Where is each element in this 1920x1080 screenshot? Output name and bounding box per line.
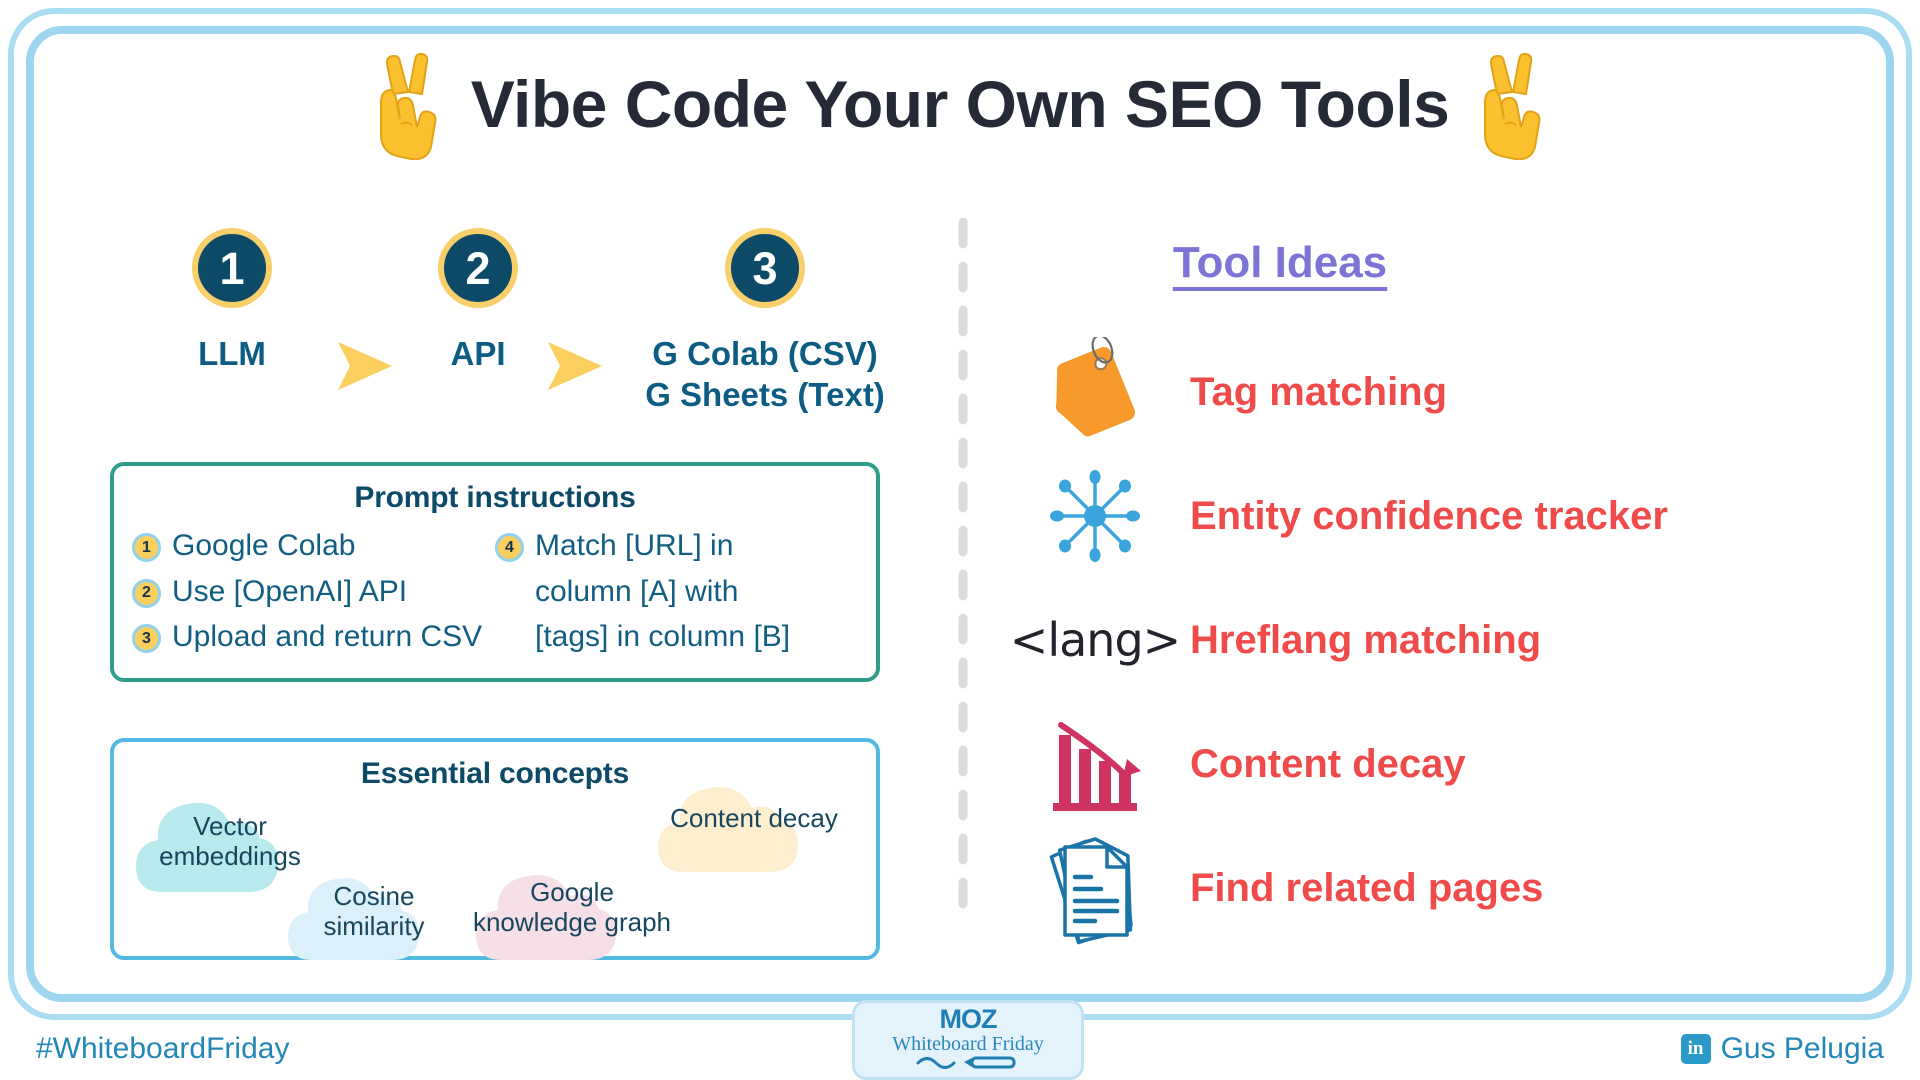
cloud-line-1: Content decay <box>654 804 854 834</box>
tool-ideas-heading: Tool Ideas <box>1000 238 1560 288</box>
workflow-step-3: 3 G Colab (CSV) G Sheets (Text) <box>625 228 905 416</box>
price-tag-icon <box>1000 337 1190 447</box>
list-item: 4 Match [URL] in <box>495 528 858 565</box>
workflow-steps: 1 LLM 2 API 3 G Colab (CSV) <box>150 228 910 418</box>
step-label-line-1: G Colab (CSV) <box>625 333 905 374</box>
tool-idea-label: Content decay <box>1190 742 1466 787</box>
step-number-badge: 1 <box>192 228 272 308</box>
tool-ideas-list: Tag matching <box>1000 330 1920 950</box>
step-label: API <box>418 333 538 374</box>
workflow-step-2: 2 API <box>418 228 538 374</box>
moz-whiteboard-friday-badge: MOZ Whiteboard Friday <box>852 1000 1084 1080</box>
cloud-line-1: Vector <box>130 812 330 842</box>
item-text-continued: column [A] with <box>535 574 858 611</box>
chevron-right-icon <box>330 336 400 396</box>
list-item: 2 Use [OpenAI] API <box>132 574 495 611</box>
tool-idea-label: Entity confidence tracker <box>1190 494 1668 539</box>
item-number-badge: 3 <box>132 624 161 653</box>
linkedin-icon[interactable]: in <box>1681 1034 1711 1064</box>
tool-idea-label: Hreflang matching <box>1190 618 1541 663</box>
tool-idea-row: Find related pages <box>1000 826 1920 950</box>
tool-idea-row: Entity confidence tracker <box>1000 454 1920 578</box>
tool-idea-label: Tag matching <box>1190 370 1447 415</box>
right-column: Tool Ideas Tag matching <box>1000 0 1920 1020</box>
item-text: Match [URL] in <box>535 528 733 565</box>
concept-cloud-label: Google knowledge graph <box>472 878 672 938</box>
workflow-step-1: 1 LLM <box>172 228 292 374</box>
list-item: 1 Google Colab <box>132 528 495 565</box>
chevron-right-icon <box>540 336 610 396</box>
author-credit[interactable]: in Gus Pelugia <box>1681 1032 1884 1066</box>
cloud-line-2: knowledge graph <box>472 908 672 938</box>
item-number-badge: 2 <box>132 579 161 608</box>
essential-concepts-panel: Essential concepts Vector embeddings <box>110 738 880 960</box>
step-label: G Colab (CSV) G Sheets (Text) <box>625 333 905 416</box>
concept-cloud-label: Content decay <box>654 804 854 834</box>
whiteboard-canvas: Vibe Code Your Own SEO Tools 1 LLM <box>0 0 1920 1080</box>
prompt-instructions-panel: Prompt instructions 1 Google Colab 2 Use… <box>110 462 880 682</box>
tool-idea-label: Find related pages <box>1190 866 1543 911</box>
prompt-panel-title: Prompt instructions <box>114 466 876 515</box>
author-name: Gus Pelugia <box>1721 1032 1884 1066</box>
prompt-column-left: 1 Google Colab 2 Use [OpenAI] API 3 Uplo… <box>132 528 495 665</box>
cloud-line-1: Cosine <box>284 882 464 912</box>
prompt-columns: 1 Google Colab 2 Use [OpenAI] API 3 Uplo… <box>114 528 876 665</box>
concept-clouds: Vector embeddings Cosine similarity <box>114 742 876 956</box>
concept-cloud: Google knowledge graph <box>472 840 672 970</box>
list-item: 3 Upload and return CSV <box>132 619 495 656</box>
hashtag-label: #WhiteboardFriday <box>36 1032 289 1066</box>
step-label-line-2: G Sheets (Text) <box>625 374 905 415</box>
network-nodes-icon <box>1000 461 1190 571</box>
item-text: Use [OpenAI] API <box>172 574 407 611</box>
concept-cloud: Content decay <box>654 752 854 882</box>
item-text: Google Colab <box>172 528 355 565</box>
tool-idea-row: Content decay <box>1000 702 1920 826</box>
moz-badge-subtitle: Whiteboard Friday <box>892 1034 1044 1054</box>
prompt-column-right: 4 Match [URL] in column [A] with [tags] … <box>495 528 858 665</box>
step-number-badge: 2 <box>438 228 518 308</box>
vertical-dashed-divider <box>958 218 968 918</box>
lang-tag-icon: <lang> <box>1000 585 1190 695</box>
cloud-line-1: Google <box>472 878 672 908</box>
concept-cloud-label: Cosine similarity <box>284 882 464 942</box>
concept-cloud: Cosine similarity <box>284 840 464 970</box>
step-number-badge: 3 <box>725 228 805 308</box>
tool-idea-row: Tag matching <box>1000 330 1920 454</box>
marker-squiggle-icon <box>908 1055 1028 1074</box>
left-column: 1 LLM 2 API 3 G Colab (CSV) <box>0 0 960 1020</box>
lang-tag-text: <lang> <box>1010 613 1180 667</box>
moz-logo-text: MOZ <box>940 1006 997 1033</box>
item-number-badge: 1 <box>132 533 161 562</box>
tool-idea-row: <lang> Hreflang matching <box>1000 578 1920 702</box>
stacked-documents-icon <box>1000 833 1190 943</box>
cloud-line-2: similarity <box>284 912 464 942</box>
item-text: Upload and return CSV <box>172 619 482 656</box>
step-label: LLM <box>172 333 292 374</box>
item-number-badge: 4 <box>495 533 524 562</box>
item-text-continued: [tags] in column [B] <box>535 619 858 656</box>
declining-bar-chart-icon <box>1000 709 1190 819</box>
